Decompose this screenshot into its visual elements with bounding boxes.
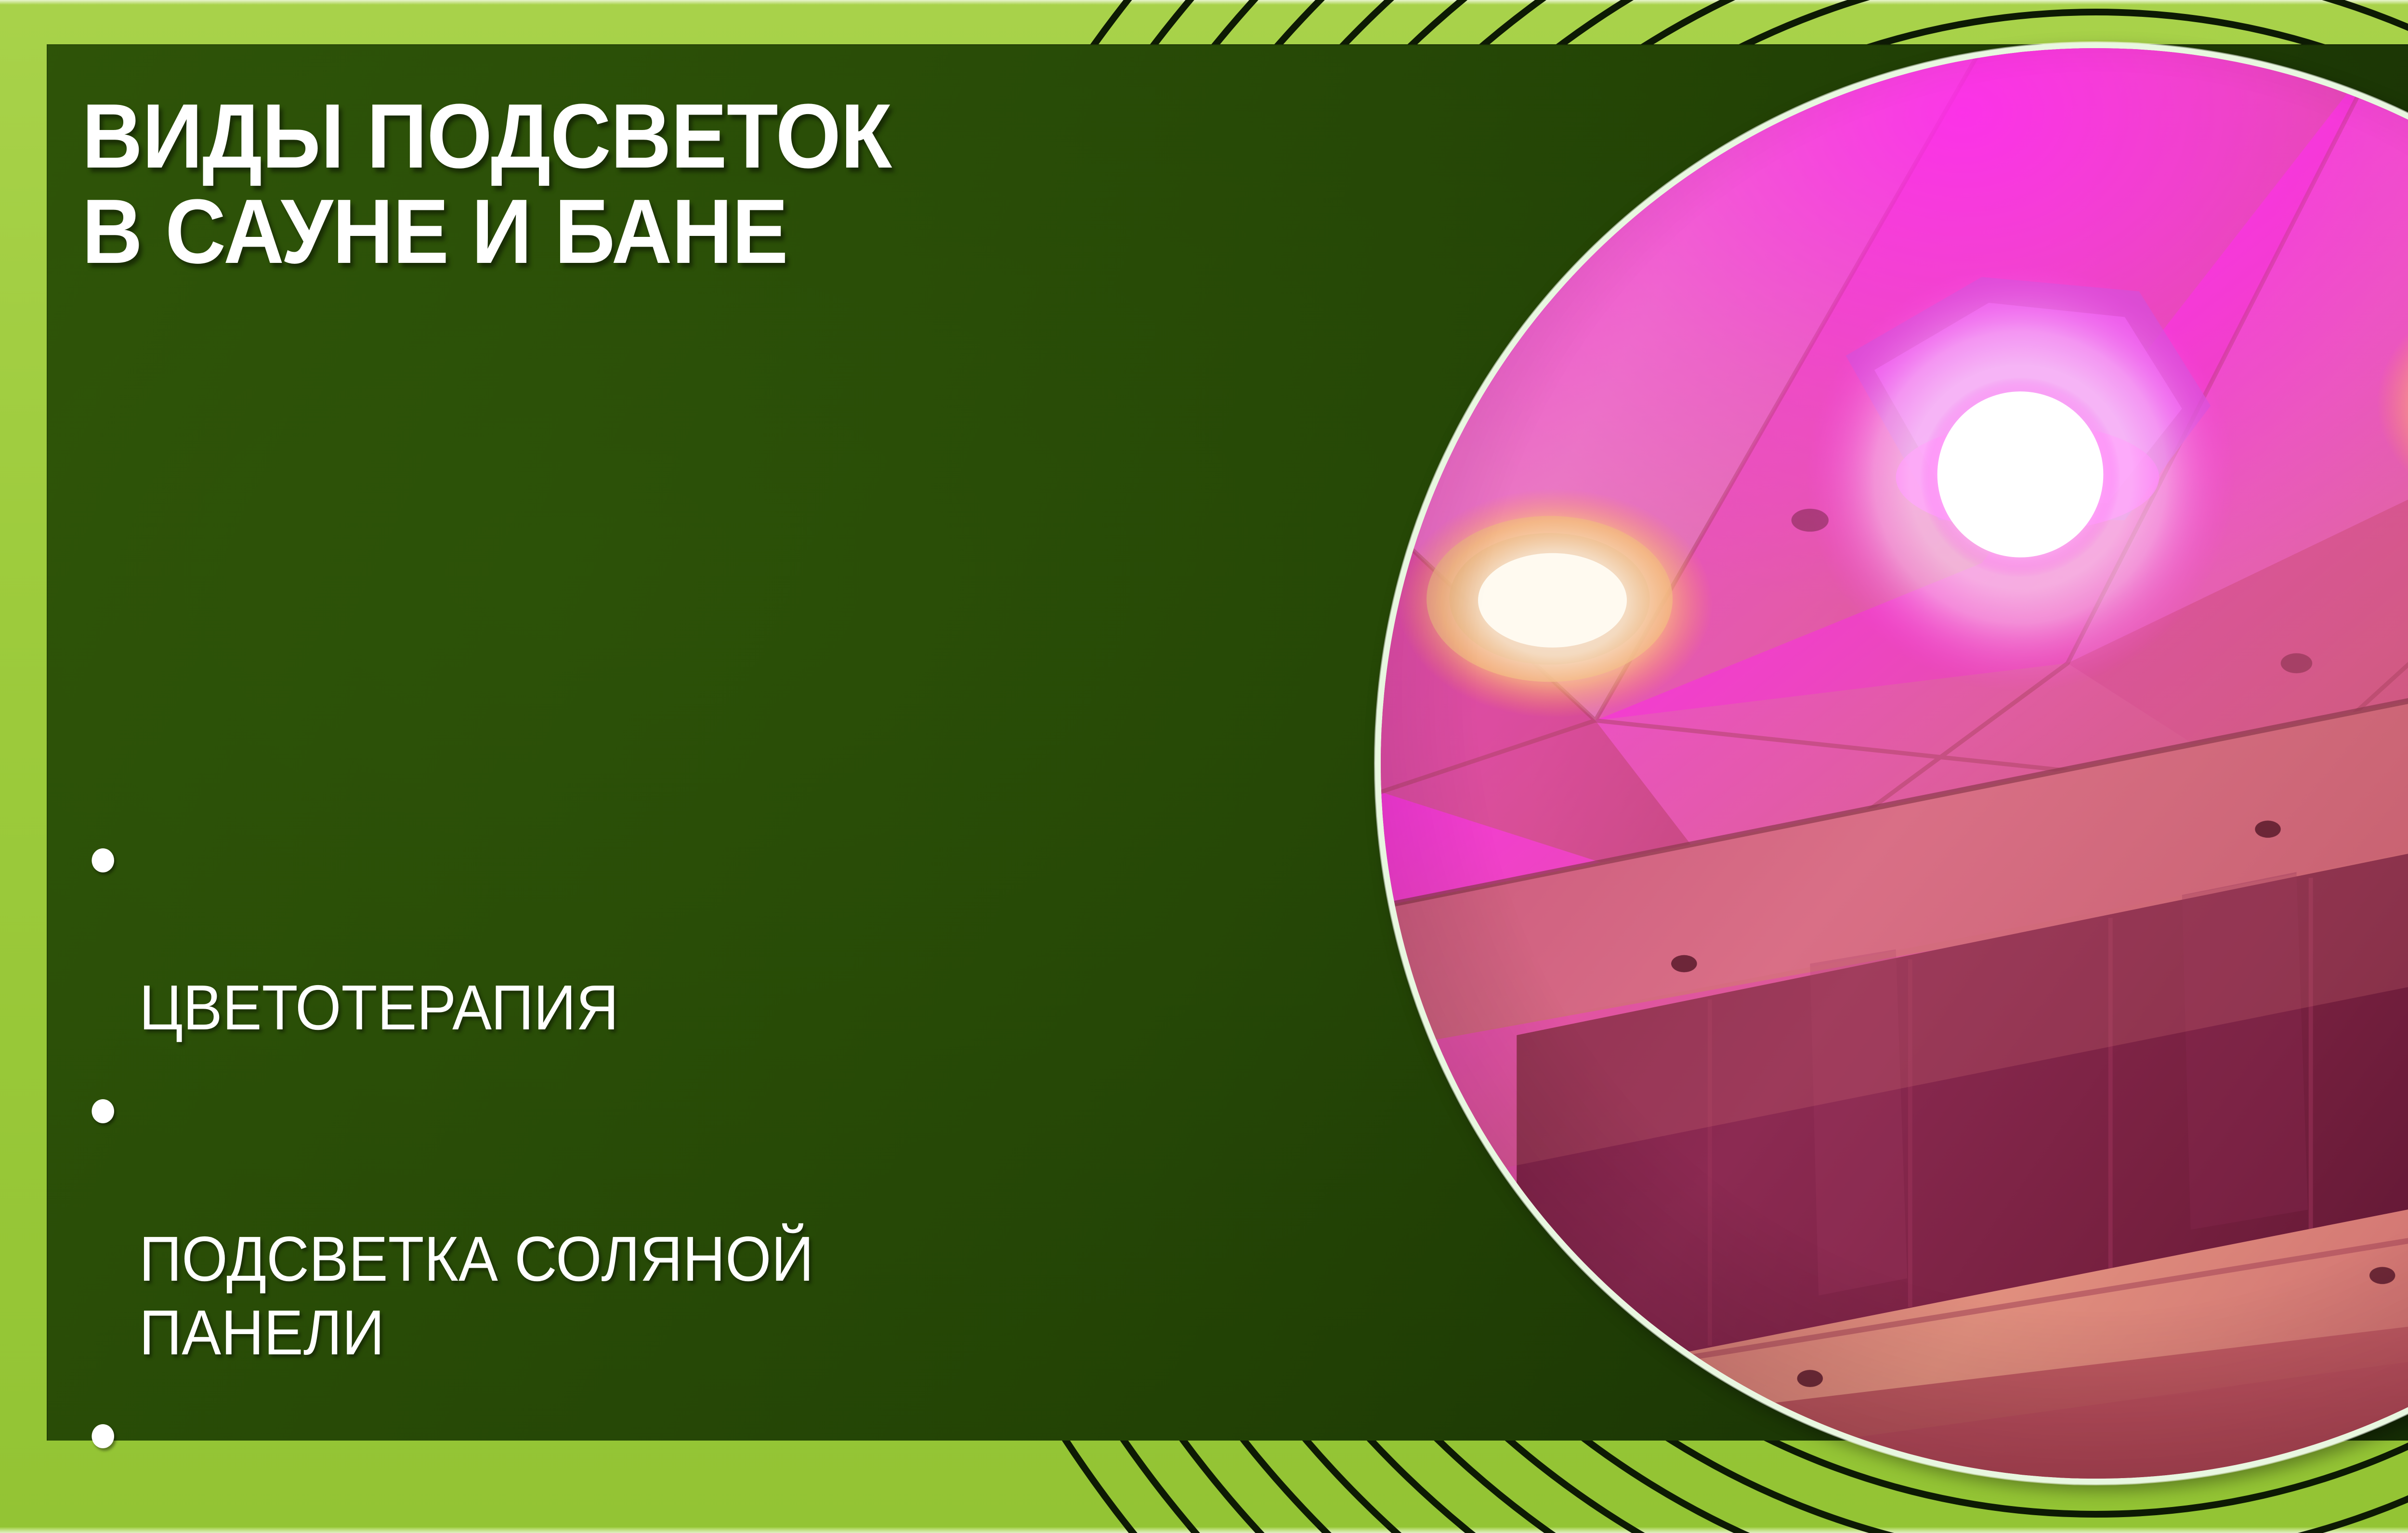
feature-list: ЦВЕТОТЕРАПИЯ ПОДСВЕТКА СОЛЯНОЙ ПАНЕЛИ ПО…	[82, 823, 1334, 1533]
bullet-dot-icon	[92, 1424, 114, 1448]
page-title: ВИДЫ ПОДСВЕТОК В САУНЕ И БАНЕ	[82, 89, 1212, 279]
poster-root: ВИДЫ ПОДСВЕТОК В САУНЕ И БАНЕ ЦВЕТОТЕРАП…	[0, 0, 2408, 1533]
bullet-dot-icon	[92, 848, 114, 872]
list-item: ПОДСВЕТКА СОЛЯНОЙ ПАНЕЛИ	[82, 1074, 1246, 1369]
text-column: ВИДЫ ПОДСВЕТОК В САУНЕ И БАНЕ ЦВЕТОТЕРАП…	[82, 63, 1310, 1411]
list-item-label: ПОДСВЕТКА СОЛЯНОЙ ПАНЕЛИ	[139, 1223, 814, 1368]
list-item: ПОДСВЕТКА ПОЛКА	[82, 1399, 1246, 1533]
bullet-dot-icon	[92, 1099, 114, 1123]
list-item: ЦВЕТОТЕРАПИЯ	[82, 823, 1246, 1044]
list-item-label: ЦВЕТОТЕРАПИЯ	[139, 972, 619, 1043]
